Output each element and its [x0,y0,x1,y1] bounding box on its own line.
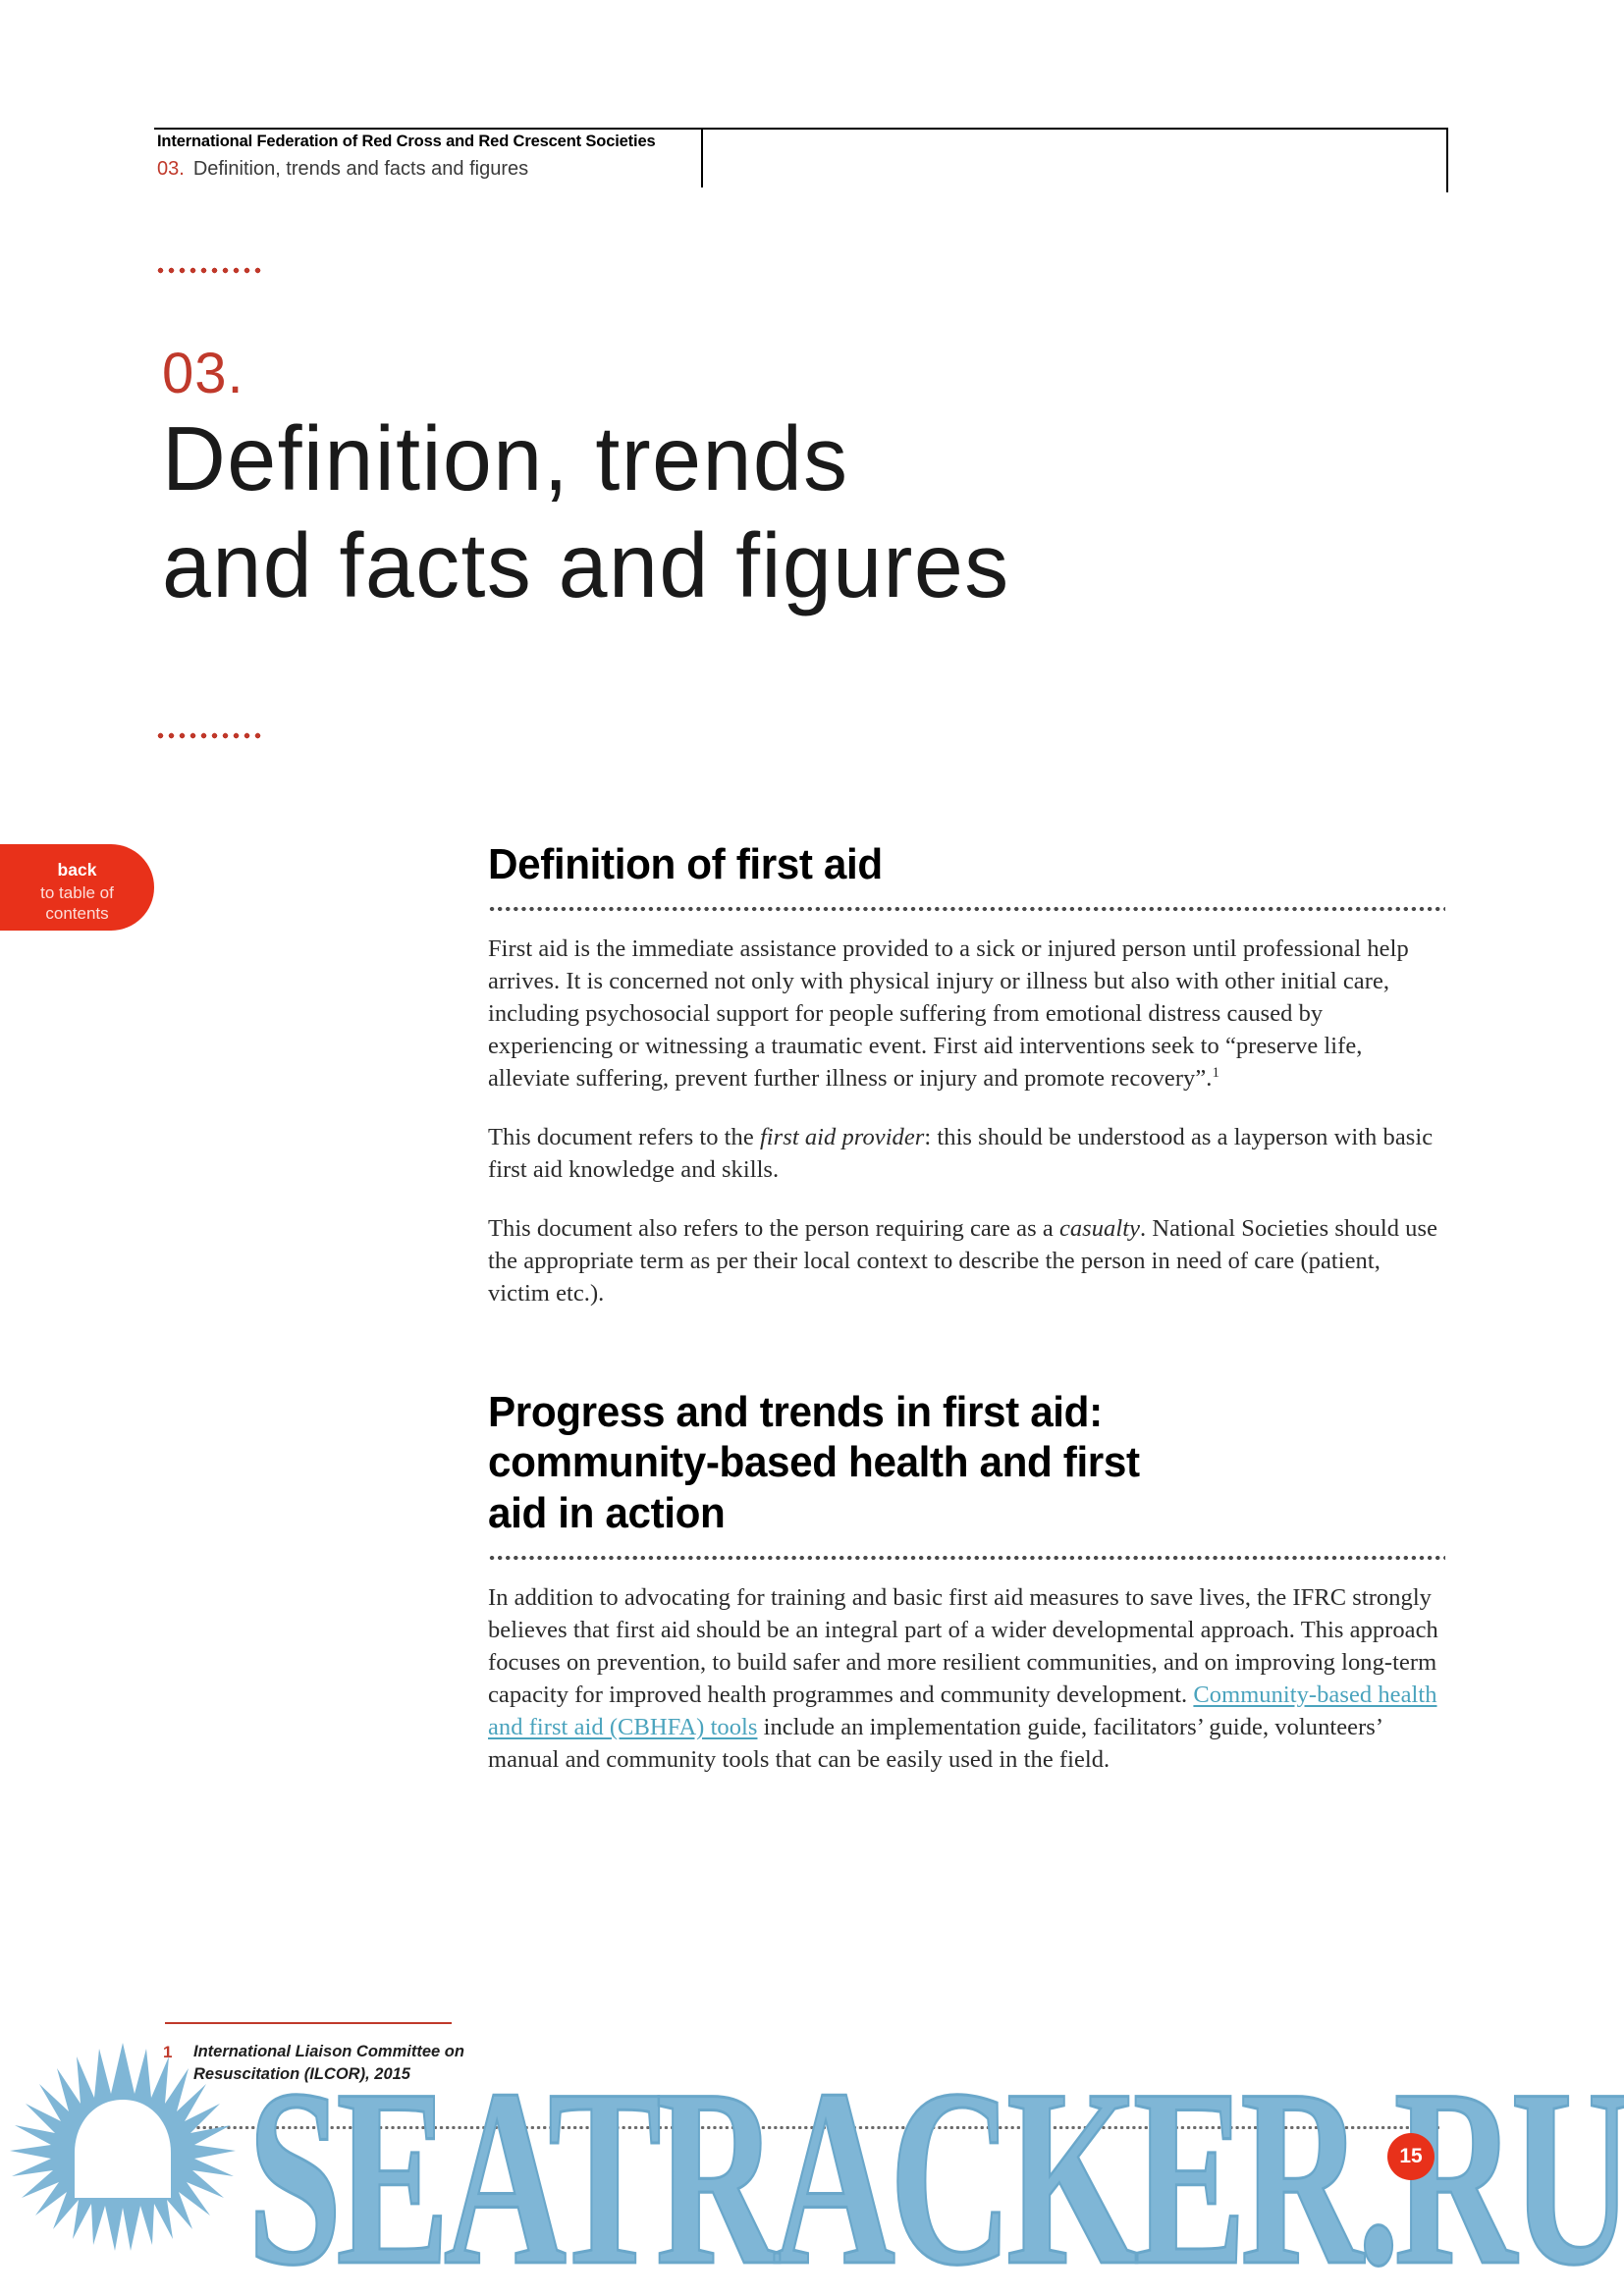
chapter-number: 03. [162,346,244,402]
paragraph-text: This document refers to the [488,1124,760,1150]
section-divider-dotted-1 [488,906,1445,912]
red-dotted-rule-top [155,267,261,274]
paragraph-text: First aid is the immediate assistance pr… [488,935,1409,1092]
section-divider-dotted-2 [488,1555,1445,1561]
footnote-rule [165,2022,452,2024]
section-heading-line-1: Progress and trends in first aid: [488,1388,1103,1436]
chapter-title-line-2: and facts and figures [162,512,1394,619]
section-progress-and-trends: Progress and trends in first aid:communi… [488,1387,1445,1777]
header-chapter-title: Definition, trends and facts and figures [193,158,528,180]
document-page: International Federation of Red Cross an… [0,0,1624,2296]
back-button-sublabel-line-2: contents [0,903,154,925]
header-organization-name: International Federation of Red Cross an… [157,131,1139,152]
section-heading-line-2: community-based health and first [488,1438,1140,1486]
italic-term-casualty: casualty [1059,1215,1140,1242]
page-number-badge: 15 [1387,2133,1435,2180]
header-top-rule [154,128,1448,130]
header-frame-right-edge [1446,129,1448,192]
chapter-title: Definition, trends and facts and figures [162,405,1394,619]
content-column: Definition of first aid First aid is the… [488,839,1445,1777]
footer-dotted-rule [165,2125,1441,2130]
back-to-contents-button[interactable]: back to table of contents [0,844,154,931]
back-button-label: back [0,859,154,882]
paragraph-definition-2: This document refers to the first aid pr… [488,1122,1445,1187]
chapter-title-line-1: Definition, trends [162,407,849,509]
footnote-number: 1 [163,2041,172,2064]
footnote-text: International Liaison Committee on Resus… [193,2041,487,2087]
paragraph-definition-3: This document also refers to the person … [488,1213,1445,1310]
section-heading-line-3: aid in action [488,1489,725,1537]
italic-term-first-aid-provider: first aid provider [760,1124,924,1150]
header-chapter-number: 03. [157,158,185,180]
header-chapter-line: 03.Definition, trends and facts and figu… [157,157,1139,182]
paragraph-text: This document also refers to the person … [488,1215,1059,1242]
footnote-reference-1[interactable]: 1 [1212,1065,1219,1081]
section-heading-definition: Definition of first aid [488,839,1407,889]
footnote-block: 1 International Liaison Committee on Res… [163,2041,487,2087]
running-header: International Federation of Red Cross an… [157,131,1139,182]
red-dotted-rule-bottom [155,732,261,739]
paragraph-definition-1: First aid is the immediate assistance pr… [488,934,1445,1095]
back-button-sublabel-line-1: to table of [0,882,154,904]
paragraph-progress-1: In addition to advocating for training a… [488,1582,1445,1777]
section-heading-progress: Progress and trends in first aid:communi… [488,1387,1407,1538]
